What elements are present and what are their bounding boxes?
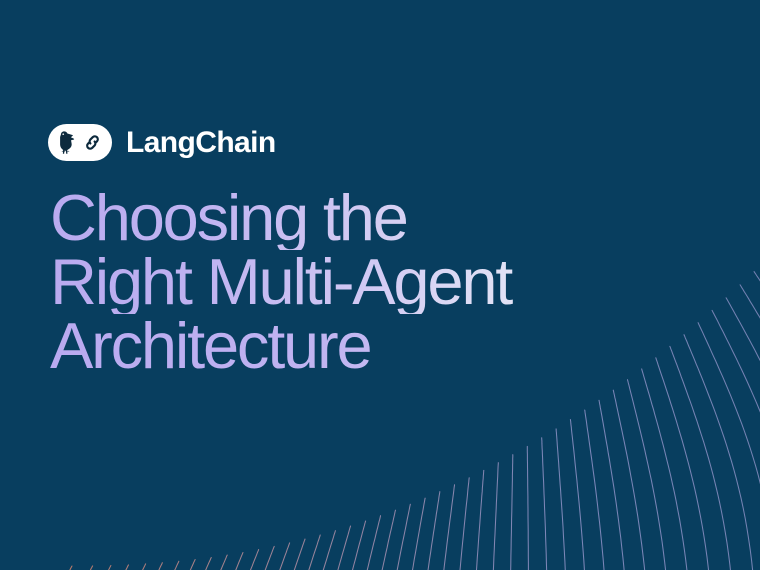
page-title-line-3: Architecture [50,314,730,378]
page-title: Choosing the Right Multi-Agent Architect… [50,186,730,378]
langchain-logo-badge [48,124,112,161]
brand-name: LangChain [126,128,276,158]
slide-content: LangChain Choosing the Right Multi-Agent… [0,0,760,570]
parrot-icon [58,131,79,155]
chain-link-icon [82,132,103,153]
slide-canvas: LangChain Choosing the Right Multi-Agent… [0,0,760,570]
brand-lockup: LangChain [48,124,276,161]
page-title-line-2: Right Multi-Agent [50,250,730,314]
page-title-line-1: Choosing the [50,186,730,250]
